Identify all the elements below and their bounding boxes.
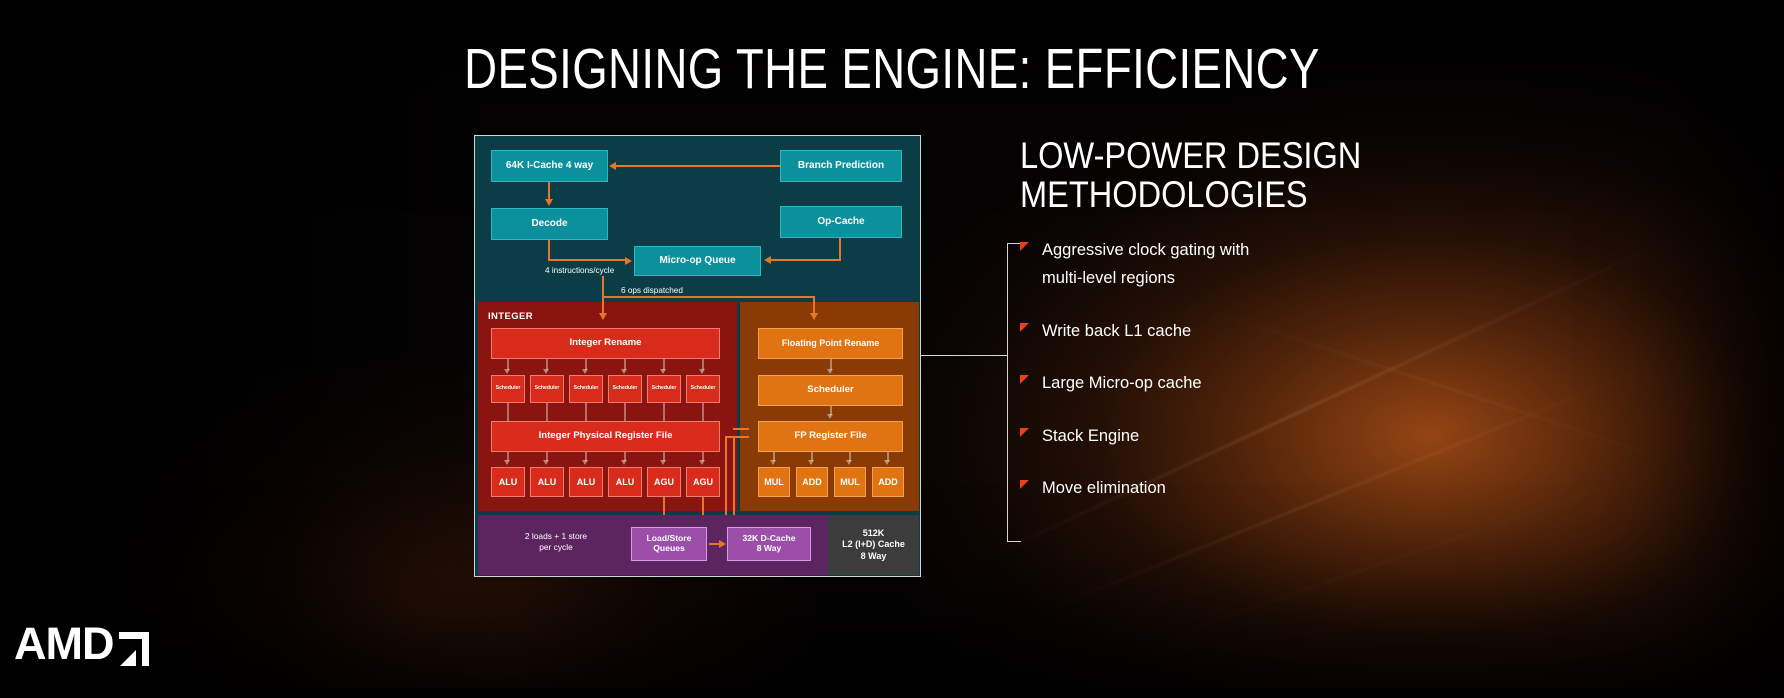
block-alu[interactable]: ALU xyxy=(530,467,564,497)
block-integer-physical-register-file[interactable]: Integer Physical Register File xyxy=(491,421,720,452)
amd-wordmark: AMD xyxy=(14,621,113,666)
block-fp-mul[interactable]: MUL xyxy=(758,467,790,497)
connector-arrowhead xyxy=(582,460,588,465)
cpu-block-diagram: 64K I-Cache 4 way Decode Branch Predicti… xyxy=(474,135,921,577)
label-loads-stores-line1: 2 loads + 1 store xyxy=(525,531,587,541)
right-panel-heading-line2: METHODOLOGIES xyxy=(1020,176,1361,215)
connector-arrowhead xyxy=(808,460,814,465)
block-alu[interactable]: ALU xyxy=(491,467,525,497)
block-scheduler[interactable]: Scheduler xyxy=(569,375,603,403)
block-icache[interactable]: 64K I-Cache 4 way xyxy=(491,150,608,182)
top-letterbox-bar xyxy=(0,0,1784,11)
block-op-cache[interactable]: Op-Cache xyxy=(780,206,902,238)
arrowhead-down xyxy=(599,313,607,320)
connector-line xyxy=(624,403,626,421)
bullet-text: Write back L1 cache xyxy=(1042,322,1191,340)
block-scheduler[interactable]: Scheduler xyxy=(686,375,720,403)
frontend-section: 64K I-Cache 4 way Decode Branch Predicti… xyxy=(475,136,919,300)
block-scheduler[interactable]: Scheduler xyxy=(491,375,525,403)
connector-arrowhead xyxy=(770,460,776,465)
diagram-to-list-connector xyxy=(921,355,1008,356)
triangle-bullet-icon xyxy=(1020,375,1029,384)
integer-section: INTEGER Integer Rename Scheduler Schedul… xyxy=(478,302,737,511)
connector-arrowhead xyxy=(543,369,549,374)
connector-line xyxy=(702,403,704,421)
bullet-text: Large Micro-op cache xyxy=(1042,374,1202,392)
arrow-bp-to-icache xyxy=(616,165,780,167)
connector-line xyxy=(546,403,548,421)
arrow-dispatch-fp-v xyxy=(813,296,815,314)
bullet-text: Stack Engine xyxy=(1042,427,1139,445)
triangle-bullet-icon xyxy=(1020,428,1029,437)
label-loads-stores-line2: per cycle xyxy=(539,542,573,552)
block-alu[interactable]: ALU xyxy=(608,467,642,497)
block-integer-rename[interactable]: Integer Rename xyxy=(491,328,720,359)
slide-title: DESIGNING THE ENGINE: EFFICIENCY xyxy=(178,36,1605,102)
arrow-dispatch-integer xyxy=(602,276,604,314)
arrow-dispatch-fp-h xyxy=(602,296,815,298)
connector-arrowhead xyxy=(846,460,852,465)
triangle-bullet-icon xyxy=(1020,323,1029,332)
bullet-item[interactable]: Write back L1 cache xyxy=(1018,317,1448,345)
arrowhead-down xyxy=(545,199,553,206)
bullet-text: Aggressive clock gating with multi-level… xyxy=(1042,241,1249,287)
block-fp-mul[interactable]: MUL xyxy=(834,467,866,497)
label-loads-stores-per-cycle: 2 loads + 1 store per cycle xyxy=(496,531,616,553)
bullet-item[interactable]: Stack Engine xyxy=(1018,422,1448,450)
connector-arrowhead xyxy=(699,460,705,465)
connector-line xyxy=(663,403,665,421)
connector-arrowhead xyxy=(543,460,549,465)
bullet-text: Move elimination xyxy=(1042,479,1166,497)
block-branch-prediction[interactable]: Branch Prediction xyxy=(780,150,902,182)
block-fp-scheduler[interactable]: Scheduler xyxy=(758,375,903,406)
triangle-bullet-icon xyxy=(1020,242,1029,251)
lsq-line2: Queues xyxy=(653,544,685,554)
link-fp-memory xyxy=(725,436,749,438)
arrow-icache-to-decode xyxy=(548,182,550,200)
link-fp-memory xyxy=(725,436,727,521)
block-floating-point-rename[interactable]: Floating Point Rename xyxy=(758,328,903,359)
connector-line xyxy=(507,403,509,421)
dcache-line2: 8 Way xyxy=(757,544,782,554)
connector-arrowhead xyxy=(884,460,890,465)
integer-section-label: INTEGER xyxy=(488,311,533,322)
block-fp-register-file[interactable]: FP Register File xyxy=(758,421,903,452)
l2-line3: 8 Way xyxy=(861,551,887,561)
label-instructions-per-cycle: 4 instructions/cycle xyxy=(545,266,614,275)
connector-arrowhead xyxy=(827,414,833,419)
bullet-item[interactable]: Large Micro-op cache xyxy=(1018,369,1448,397)
block-agu[interactable]: AGU xyxy=(647,467,681,497)
amd-mark-bar-right xyxy=(142,632,149,666)
arrow-opcache-to-uopq xyxy=(771,259,841,261)
block-decode[interactable]: Decode xyxy=(491,208,608,240)
arrow-decode-down xyxy=(548,240,550,260)
block-scheduler[interactable]: Scheduler xyxy=(608,375,642,403)
link-fp-memory xyxy=(733,436,735,521)
block-scheduler[interactable]: Scheduler xyxy=(530,375,564,403)
block-d-cache[interactable]: 32K D-Cache 8 Way xyxy=(727,527,811,561)
block-fp-add[interactable]: ADD xyxy=(872,467,904,497)
arrow-opcache-down xyxy=(839,238,841,260)
arrowhead-right xyxy=(719,540,726,548)
bullet-item[interactable]: Aggressive clock gating with multi-level… xyxy=(1018,236,1257,293)
floating-point-section: Floating Point Rename Scheduler FP Regis… xyxy=(740,302,919,511)
block-alu[interactable]: ALU xyxy=(569,467,603,497)
bullet-item[interactable]: Move elimination xyxy=(1018,474,1448,502)
link-fp-memory xyxy=(733,428,749,430)
amd-logo: AMD xyxy=(14,621,149,666)
connector-arrowhead xyxy=(504,460,510,465)
triangle-bullet-icon xyxy=(1020,480,1029,489)
arrow-decode-to-uopq xyxy=(548,259,626,261)
amd-mark-triangle xyxy=(120,650,136,666)
right-panel-heading-line1: LOW-POWER DESIGN xyxy=(1020,137,1361,176)
block-micro-op-queue[interactable]: Micro-op Queue xyxy=(634,246,761,276)
connector-arrowhead xyxy=(699,369,705,374)
arrowhead-right xyxy=(625,257,632,265)
connector-arrowhead xyxy=(504,369,510,374)
block-fp-add[interactable]: ADD xyxy=(796,467,828,497)
l2-line2: L2 (I+D) Cache xyxy=(842,539,905,549)
amd-arrow-mark-icon xyxy=(119,632,149,666)
connector-arrowhead xyxy=(621,369,627,374)
connector-arrowhead xyxy=(827,369,833,374)
l2-line1: 512K xyxy=(863,528,885,538)
connector-arrowhead xyxy=(660,369,666,374)
block-scheduler[interactable]: Scheduler xyxy=(647,375,681,403)
low-power-bullet-list: Aggressive clock gating with multi-level… xyxy=(1018,236,1448,526)
arrowhead-left xyxy=(764,256,771,264)
connector-line xyxy=(585,403,587,421)
label-ops-dispatched: 6 ops dispatched xyxy=(621,286,683,295)
arrowhead-down xyxy=(810,313,818,320)
right-panel-heading: LOW-POWER DESIGN METHODOLOGIES xyxy=(1020,137,1361,215)
connector-arrowhead xyxy=(582,369,588,374)
block-load-store-queues[interactable]: Load/Store Queues xyxy=(631,527,707,561)
block-agu[interactable]: AGU xyxy=(686,467,720,497)
connector-arrowhead xyxy=(660,460,666,465)
block-l2-cache[interactable]: 512K L2 (I+D) Cache 8 Way xyxy=(828,515,919,575)
slide-root: DESIGNING THE ENGINE: EFFICIENCY 64K I-C… xyxy=(0,0,1784,698)
arrowhead-left xyxy=(609,162,616,170)
connector-arrowhead xyxy=(621,460,627,465)
bottom-letterbox-bar xyxy=(0,688,1784,698)
